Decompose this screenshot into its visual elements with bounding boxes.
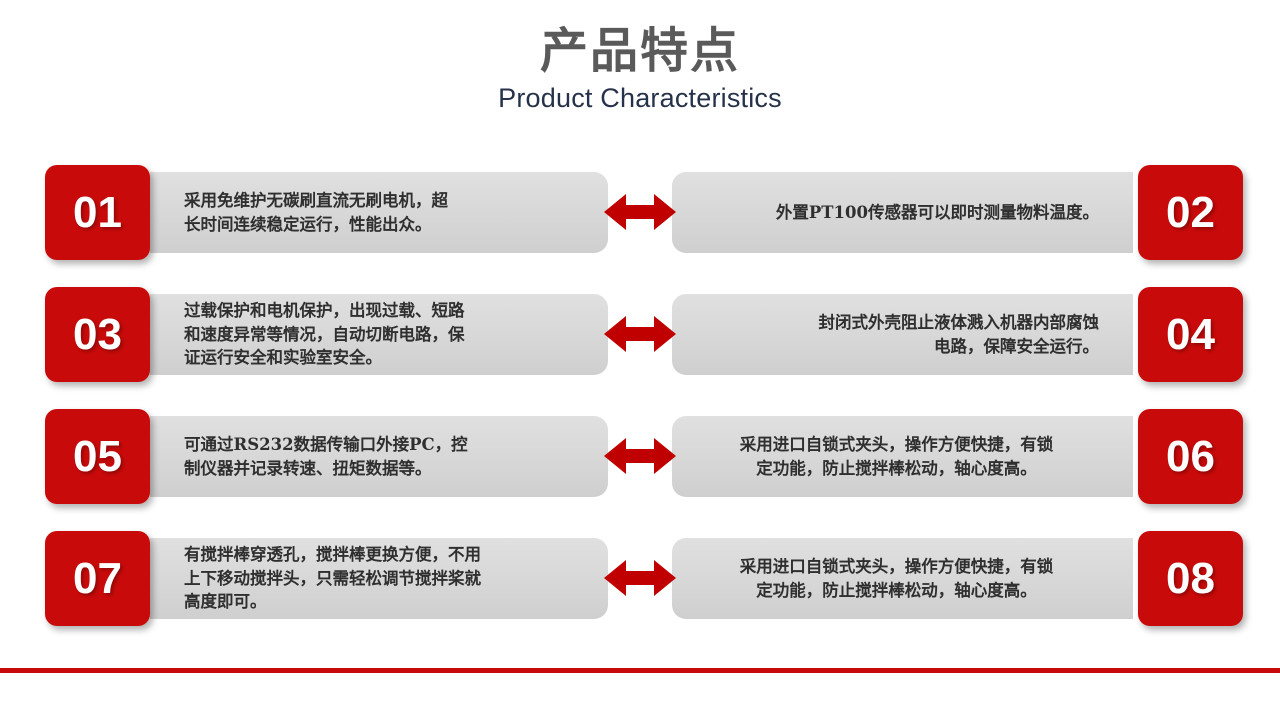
slide-header: 产品特点 Product Characteristics: [0, 0, 1280, 140]
feature-panel: 可通过RS232数据传输口外接PC，控 制仪器并记录转速、扭矩数据等。: [150, 416, 608, 497]
feature-text: 采用免维护无碳刷直流无刷电机，超 长时间连续稳定运行，性能出众。: [184, 189, 448, 237]
feature-panel: 封闭式外壳阻止液体溅入机器内部腐蚀 电路，保障安全运行。: [672, 294, 1133, 375]
feature-row: 03 过载保护和电机保护，出现过载、短路 和速度异常等情况，自动切断电路，保 证…: [0, 287, 1280, 382]
feature-item-04[interactable]: 04 封闭式外壳阻止液体溅入机器内部腐蚀 电路，保障安全运行。: [672, 287, 1243, 382]
feature-row: 07 有搅拌棒穿透孔，搅拌棒更换方便，不用 上下移动搅拌头，只需轻松调节搅拌桨就…: [0, 531, 1280, 626]
number-badge: 02: [1138, 165, 1243, 260]
double-arrow-horizontal-icon: [604, 310, 676, 358]
number-badge: 06: [1138, 409, 1243, 504]
double-arrow-horizontal-icon: [604, 188, 676, 236]
badge-number-label: 07: [73, 554, 122, 604]
page-subtitle: Product Characteristics: [0, 79, 1280, 114]
feature-text: 有搅拌棒穿透孔，搅拌棒更换方便，不用 上下移动搅拌头，只需轻松调节搅拌桨就 高度…: [184, 543, 481, 615]
feature-panel: 有搅拌棒穿透孔，搅拌棒更换方便，不用 上下移动搅拌头，只需轻松调节搅拌桨就 高度…: [150, 538, 608, 619]
number-badge: 05: [45, 409, 150, 504]
feature-text: 可通过RS232数据传输口外接PC，控 制仪器并记录转速、扭矩数据等。: [184, 433, 468, 481]
feature-text: 采用进口自锁式夹头，操作方便快捷，有锁 定功能，防止搅拌棒松动，轴心度高。: [694, 433, 1099, 481]
feature-item-06[interactable]: 06 采用进口自锁式夹头，操作方便快捷，有锁 定功能，防止搅拌棒松动，轴心度高。: [672, 409, 1243, 504]
badge-number-label: 01: [73, 188, 122, 238]
feature-item-01[interactable]: 01 采用免维护无碳刷直流无刷电机，超 长时间连续稳定运行，性能出众。: [45, 165, 608, 260]
feature-text: 外置PT100传感器可以即时测量物料温度。: [776, 201, 1099, 225]
number-badge: 01: [45, 165, 150, 260]
feature-item-08[interactable]: 08 采用进口自锁式夹头，操作方便快捷，有锁 定功能，防止搅拌棒松动，轴心度高。: [672, 531, 1243, 626]
feature-panel: 采用免维护无碳刷直流无刷电机，超 长时间连续稳定运行，性能出众。: [150, 172, 608, 253]
feature-item-05[interactable]: 05 可通过RS232数据传输口外接PC，控 制仪器并记录转速、扭矩数据等。: [45, 409, 608, 504]
feature-item-07[interactable]: 07 有搅拌棒穿透孔，搅拌棒更换方便，不用 上下移动搅拌头，只需轻松调节搅拌桨就…: [45, 531, 608, 626]
badge-number-label: 06: [1166, 432, 1215, 482]
feature-panel: 采用进口自锁式夹头，操作方便快捷，有锁 定功能，防止搅拌棒松动，轴心度高。: [672, 416, 1133, 497]
page-title: 产品特点: [0, 0, 1280, 79]
bottom-accent-bar: [0, 668, 1280, 673]
badge-number-label: 05: [73, 432, 122, 482]
feature-text: 过载保护和电机保护，出现过载、短路 和速度异常等情况，自动切断电路，保 证运行安…: [184, 299, 465, 371]
number-badge: 04: [1138, 287, 1243, 382]
double-arrow-horizontal-icon: [604, 554, 676, 602]
feature-row: 05 可通过RS232数据传输口外接PC，控 制仪器并记录转速、扭矩数据等。 0…: [0, 409, 1280, 504]
feature-list: 01 采用免维护无碳刷直流无刷电机，超 长时间连续稳定运行，性能出众。 02 外…: [0, 165, 1280, 653]
number-badge: 07: [45, 531, 150, 626]
feature-text: 封闭式外壳阻止液体溅入机器内部腐蚀 电路，保障安全运行。: [819, 311, 1100, 359]
badge-number-label: 02: [1166, 188, 1215, 238]
badge-number-label: 03: [73, 310, 122, 360]
feature-text: 采用进口自锁式夹头，操作方便快捷，有锁 定功能，防止搅拌棒松动，轴心度高。: [694, 555, 1099, 603]
badge-number-label: 08: [1166, 554, 1215, 604]
feature-item-02[interactable]: 02 外置PT100传感器可以即时测量物料温度。: [672, 165, 1243, 260]
badge-number-label: 04: [1166, 310, 1215, 360]
number-badge: 03: [45, 287, 150, 382]
feature-row: 01 采用免维护无碳刷直流无刷电机，超 长时间连续稳定运行，性能出众。 02 外…: [0, 165, 1280, 260]
feature-panel: 外置PT100传感器可以即时测量物料温度。: [672, 172, 1133, 253]
feature-panel: 过载保护和电机保护，出现过载、短路 和速度异常等情况，自动切断电路，保 证运行安…: [150, 294, 608, 375]
number-badge: 08: [1138, 531, 1243, 626]
feature-panel: 采用进口自锁式夹头，操作方便快捷，有锁 定功能，防止搅拌棒松动，轴心度高。: [672, 538, 1133, 619]
double-arrow-horizontal-icon: [604, 432, 676, 480]
feature-item-03[interactable]: 03 过载保护和电机保护，出现过载、短路 和速度异常等情况，自动切断电路，保 证…: [45, 287, 608, 382]
